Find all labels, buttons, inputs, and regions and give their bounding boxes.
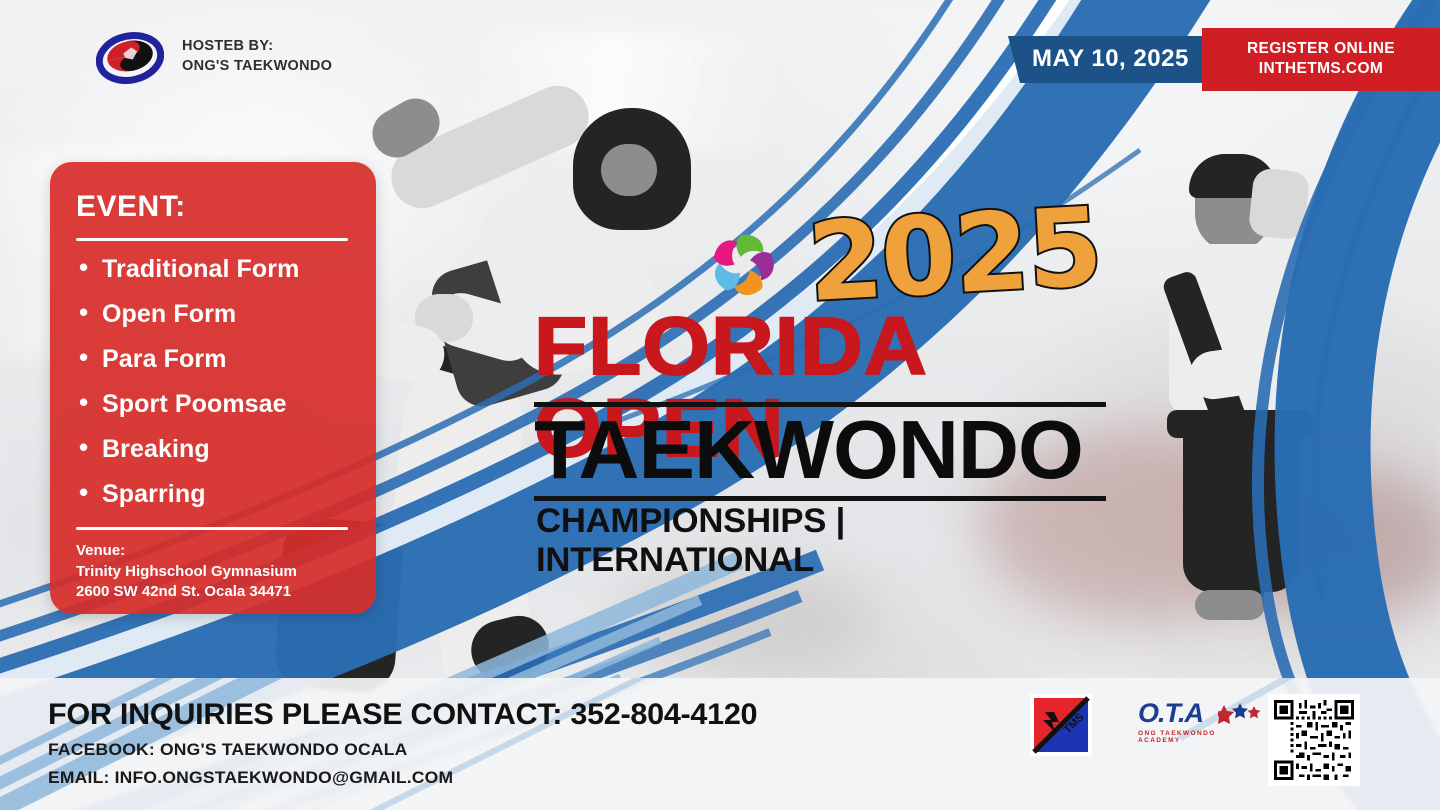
panel-divider-bottom bbox=[76, 527, 348, 530]
register-line-2: INTHETMS.COM bbox=[1220, 59, 1422, 79]
list-item: Para Form bbox=[76, 347, 350, 372]
register-line-1: REGISTER ONLINE bbox=[1220, 39, 1422, 59]
taekwondo-headline: TAEKWONDO bbox=[534, 404, 1083, 495]
list-item: Open Form bbox=[76, 302, 350, 327]
year-headline: 2025 bbox=[805, 194, 1103, 318]
facebook-line: FACEBOOK: ONG'S TAEKWONDO OCALA bbox=[48, 740, 407, 760]
host-name: ONG'S TAEKWONDO bbox=[182, 57, 332, 77]
ota-logo-subtitle: ONG TAEKWONDO ACADEMY bbox=[1138, 730, 1260, 744]
host-credit: HOSTEB BY: ONG'S TAEKWONDO bbox=[96, 30, 332, 84]
event-panel: EVENT: Traditional Form Open Form Para F… bbox=[50, 162, 376, 614]
qr-code-icon bbox=[1274, 700, 1354, 780]
world-taekwondo-pinwheel-icon bbox=[702, 226, 784, 304]
event-panel-title: EVENT: bbox=[76, 190, 350, 224]
panel-divider-top bbox=[76, 238, 348, 241]
sponsor-logo-row: TMS O.T.A ONG TAEKWONDO ACADEMY bbox=[1030, 694, 1260, 756]
host-text: HOSTEB BY: ONG'S TAEKWONDO bbox=[182, 37, 332, 76]
list-item: Sparring bbox=[76, 482, 350, 507]
list-item: Sport Poomsae bbox=[76, 392, 350, 417]
roundel-icon bbox=[96, 30, 164, 84]
qr-code[interactable] bbox=[1268, 694, 1360, 786]
venue-line-1: Trinity Highschool Gymnasium bbox=[76, 562, 350, 582]
date-badge: MAY 10, 2025 bbox=[1008, 36, 1211, 83]
list-item: Traditional Form bbox=[76, 257, 350, 282]
star-burst-icon bbox=[1218, 702, 1264, 728]
championships-subtitle: CHAMPIONSHIPS | INTERNATIONAL bbox=[536, 502, 1132, 580]
ong-taekwondo-roundel-logo bbox=[96, 30, 164, 84]
venue-line-2: 2600 SW 42nd St. Ocala 34471 bbox=[76, 582, 350, 602]
register-online-badge[interactable]: REGISTER ONLINE INTHETMS.COM bbox=[1202, 28, 1440, 91]
host-label: HOSTEB BY: bbox=[182, 37, 332, 57]
venue-label: Venue: bbox=[76, 542, 350, 559]
event-list: Traditional Form Open Form Para Form Spo… bbox=[76, 257, 350, 507]
poster-canvas: HOSTEB BY: ONG'S TAEKWONDO MAY 10, 2025 … bbox=[0, 0, 1440, 810]
ota-logo: O.T.A ONG TAEKWONDO ACADEMY bbox=[1138, 700, 1260, 750]
title-rule-bottom bbox=[534, 496, 1106, 501]
contact-headline: FOR INQUIRIES PLEASE CONTACT: 352-804-41… bbox=[48, 698, 757, 732]
tms-logo: TMS bbox=[1030, 694, 1092, 756]
email-line: EMAIL: INFO.ONGSTAEKWONDO@GMAIL.COM bbox=[48, 768, 453, 788]
list-item: Breaking bbox=[76, 437, 350, 462]
